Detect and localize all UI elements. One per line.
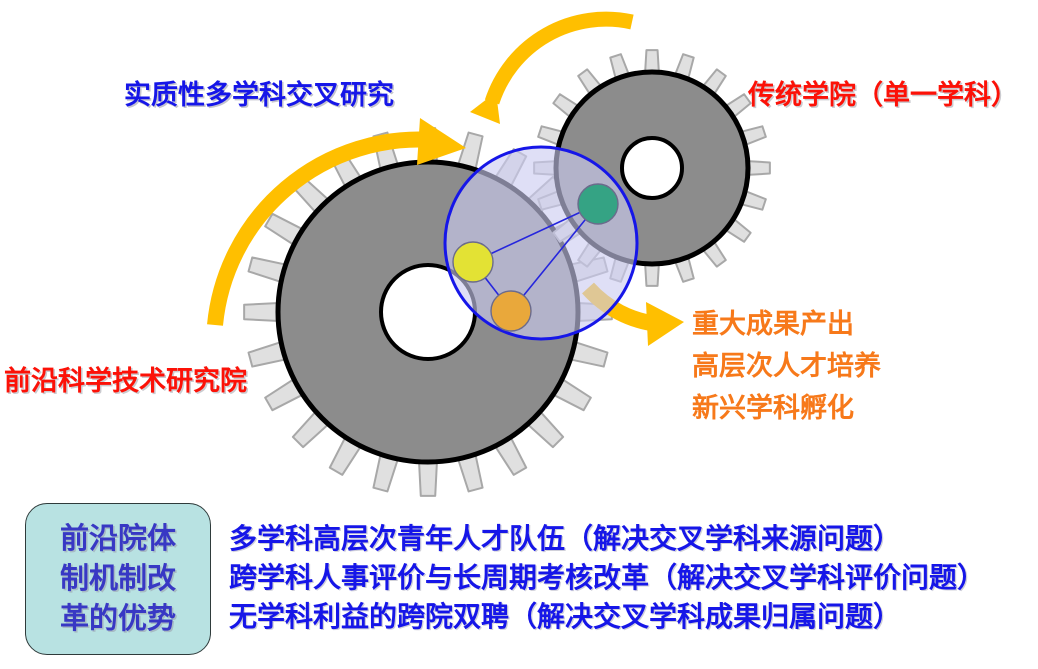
node-yellow	[453, 242, 493, 282]
outcomes-list: 重大成果产出 高层次人才培养 新兴学科孵化	[692, 303, 881, 429]
label-frontier-institute: 前沿科学技术研究院	[4, 366, 247, 398]
bullet-item: 无学科利益的跨院双聘（解决交叉学科成果归属问题）	[229, 597, 985, 636]
advantage-callout-box: 前沿院体 制机制改 革的优势	[25, 503, 211, 655]
reform-bullet-list: 多学科高层次青年人才队伍（解决交叉学科来源问题） 跨学科人事评价与长周期考核改革…	[229, 519, 985, 636]
bullet-item: 多学科高层次青年人才队伍（解决交叉学科来源问题）	[229, 519, 985, 558]
outcome-item: 新兴学科孵化	[692, 387, 881, 429]
bullet-item: 跨学科人事评价与长周期考核改革（解决交叉学科评价问题）	[229, 558, 985, 597]
advantage-line: 前沿院体	[60, 519, 176, 559]
advantage-line: 制机制改	[60, 559, 176, 599]
outcome-item: 高层次人才培养	[692, 345, 881, 387]
label-traditional-college: 传统学院（单一学科）	[748, 80, 1018, 112]
node-orange	[491, 291, 531, 331]
diagram-canvas: 实质性多学科交叉研究 传统学院（单一学科） 前沿科学技术研究院 重大成果产出 高…	[0, 0, 1038, 669]
advantage-line: 革的优势	[60, 599, 176, 639]
label-interdisciplinary-research: 实质性多学科交叉研究	[124, 80, 394, 112]
node-green	[578, 184, 618, 224]
outcome-item: 重大成果产出	[692, 303, 881, 345]
